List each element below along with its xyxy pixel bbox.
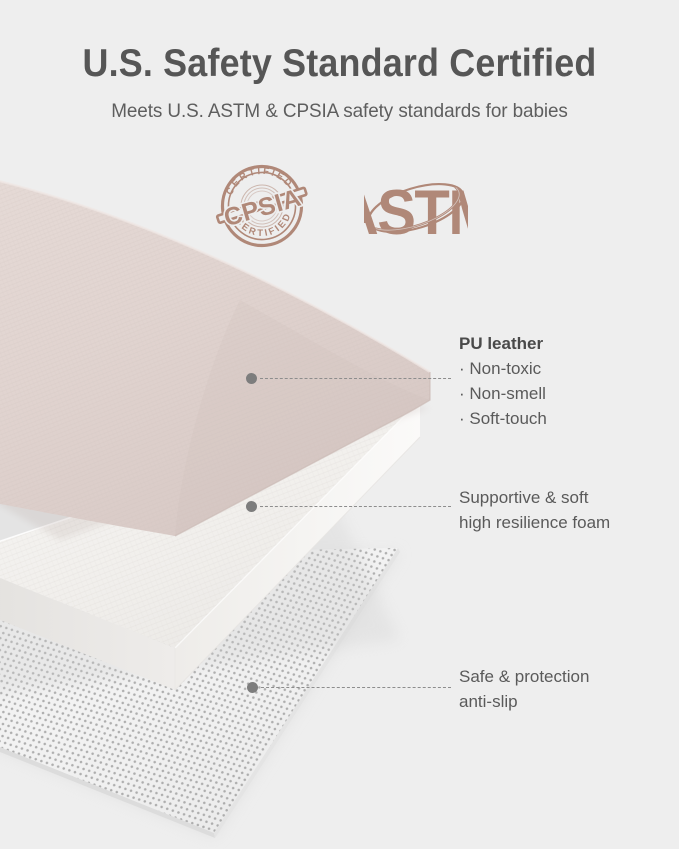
leader-dot (246, 501, 257, 512)
page-title: U.S. Safety Standard Certified (27, 0, 652, 83)
certification-badges: CERTIFIED CERTIFIED CPSIA ASTM (0, 152, 679, 260)
leader-line-pu-leather (246, 371, 451, 385)
cpsia-badge: CERTIFIED CERTIFIED CPSIA (212, 156, 312, 256)
callout-bullet: · Soft-touch (459, 407, 547, 432)
callout-heading: PU leather (459, 332, 547, 357)
leader-dash (260, 378, 451, 379)
astm-wordmark: ASTM (364, 177, 468, 248)
callout-line: Supportive & soft (459, 486, 610, 511)
callout-line: Safe & protection (459, 665, 589, 690)
astm-badge: ASTM (364, 156, 468, 256)
callout-line: high resilience foam (459, 511, 610, 536)
leader-line-foam (246, 499, 451, 513)
callout-bullet: · Non-toxic (459, 357, 547, 382)
page-subtitle: Meets U.S. ASTM & CPSIA safety standards… (10, 83, 669, 123)
callout-line: anti-slip (459, 690, 589, 715)
leader-dash (261, 687, 451, 688)
callout-foam: Supportive & soft high resilience foam (459, 486, 610, 536)
callout-bullet: · Non-smell (459, 382, 547, 407)
callout-anti-slip: Safe & protection anti-slip (459, 665, 589, 715)
leader-dot (247, 682, 258, 693)
leader-dot (246, 373, 257, 384)
leader-dash (260, 506, 451, 507)
callout-pu-leather: PU leather · Non-toxic · Non-smell · Sof… (459, 332, 547, 432)
header: U.S. Safety Standard Certified Meets U.S… (0, 0, 679, 150)
leader-line-anti-slip (247, 680, 451, 694)
